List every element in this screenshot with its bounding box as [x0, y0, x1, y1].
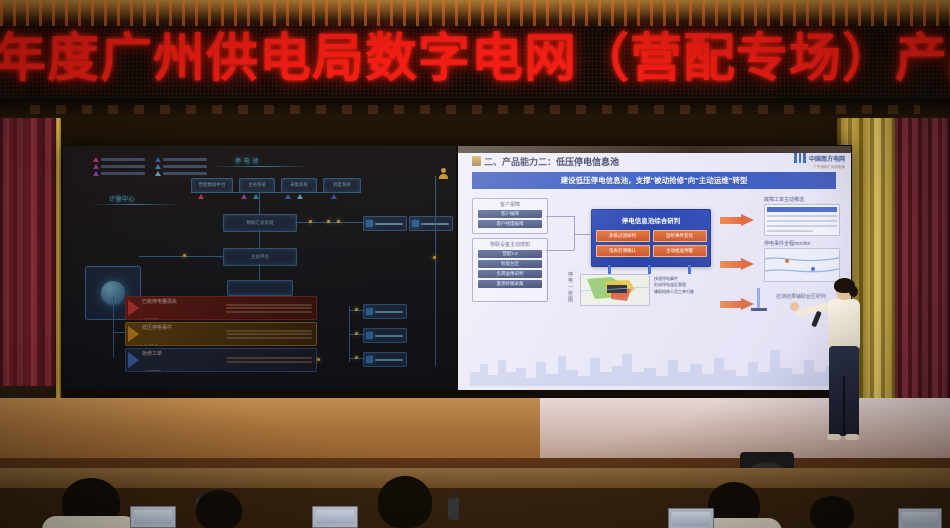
audience-shoulders [42, 516, 138, 528]
left-screen-dashboard: 停 电 池 计量中心 营配数据中台 主站系统 采集系统 调度系统 数据汇总处理 … [63, 146, 456, 390]
presenter-shoe [827, 434, 841, 440]
audience-head [378, 476, 432, 528]
led-bottom-edge [0, 98, 950, 118]
right-screen-slide: 二、产品能力二：低压停电信息池 中国南方电网 广东电网广州供电局 建设低压停电信… [458, 146, 851, 390]
laptop[interactable] [898, 508, 942, 528]
laptop[interactable] [130, 506, 176, 528]
presenter [818, 280, 874, 452]
laptop[interactable] [312, 506, 358, 528]
curtain-gold-trim [56, 118, 61, 400]
laptop[interactable] [668, 508, 714, 528]
audience-area [0, 468, 950, 528]
audience-head [810, 496, 854, 528]
floor-reflection [540, 398, 950, 460]
water-bottle [448, 498, 459, 520]
presenter-hair-bun [849, 286, 858, 297]
audience-head [196, 490, 242, 528]
conference-hall-scene: 年度广州供电局数字电网（营配专场）产品 停 电 池 [0, 0, 950, 528]
led-banner: 年度广州供电局数字电网（营配专场）产品 [0, 0, 950, 118]
presenter-shoe [845, 434, 859, 440]
projection-screen-assembly: 停 电 池 计量中心 营配数据中台 主站系统 采集系统 调度系统 数据汇总处理 … [62, 145, 852, 405]
presenter-torso [828, 299, 860, 349]
banner-text: 年度广州供电局数字电网（营配专场）产品 [0, 22, 950, 98]
curtain-left-red [0, 118, 58, 386]
